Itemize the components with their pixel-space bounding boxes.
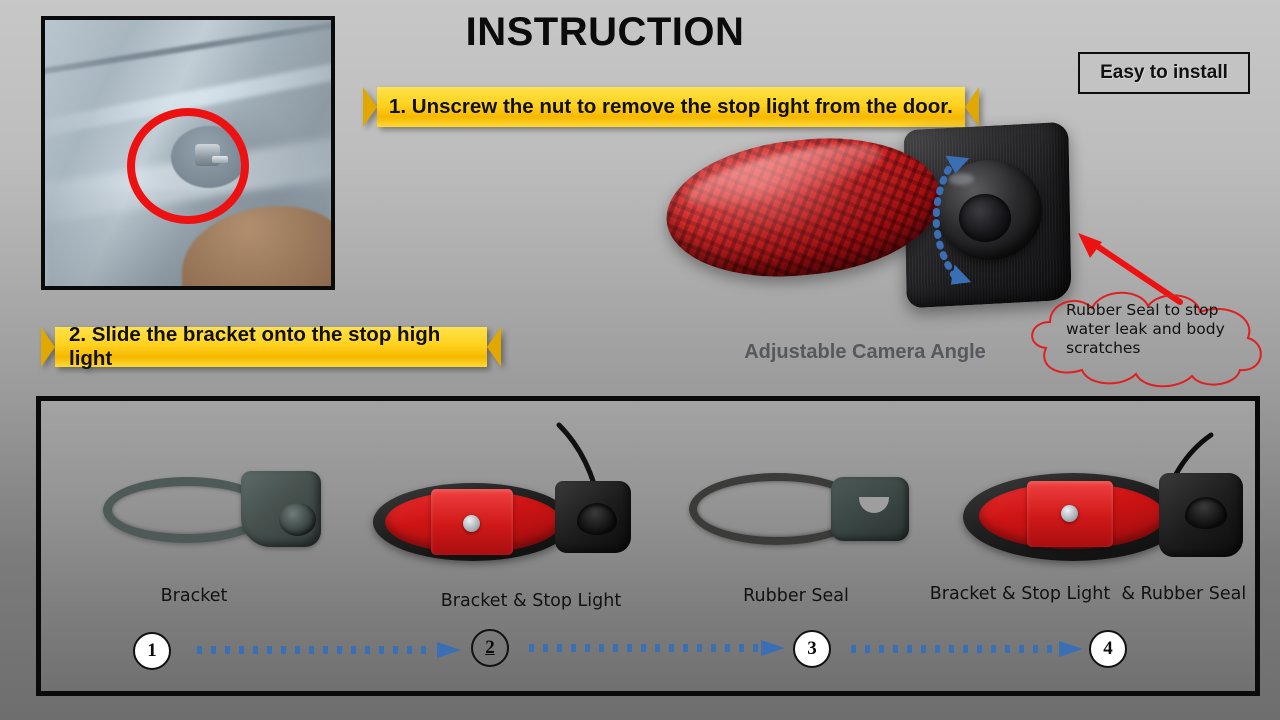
bracket-camera-lens bbox=[279, 503, 316, 536]
step-2-banner: 2. Slide the bracket onto the stop high … bbox=[41, 327, 501, 367]
lens-gloss bbox=[682, 132, 887, 220]
rubber-seal-callout: Rubber Seal to stop water leak and body … bbox=[1016, 286, 1278, 390]
page-title: INSTRUCTION bbox=[440, 10, 770, 55]
rotation-arrow-icon bbox=[918, 138, 1008, 298]
stop-light-camera-assembly bbox=[660, 118, 1080, 313]
part-label-3: Rubber Seal bbox=[681, 586, 911, 606]
step-2-text: 2. Slide the bracket onto the stop high … bbox=[55, 327, 487, 367]
part-bracket-stoplight bbox=[359, 421, 649, 561]
adjustable-camera-angle-label: Adjustable Camera Angle bbox=[700, 341, 1030, 364]
flow-arrow-2-3 bbox=[525, 639, 787, 657]
step-circle-2: 2 bbox=[471, 629, 509, 667]
step-circle-2-number: 2 bbox=[485, 637, 495, 659]
flow-arrow-1-2 bbox=[193, 641, 463, 659]
assembly-camera-hole bbox=[1185, 497, 1227, 529]
bracket-camera-hole bbox=[577, 503, 617, 535]
banner-left-cap bbox=[363, 87, 377, 127]
part-label-1: Bracket bbox=[79, 586, 309, 606]
step-circle-3-number: 3 bbox=[807, 638, 817, 660]
step-circle-4-number: 4 bbox=[1103, 638, 1113, 660]
step-circle-4: 4 bbox=[1089, 630, 1127, 668]
banner-right-cap-2 bbox=[487, 327, 501, 367]
flow-arrow-3-4 bbox=[847, 640, 1085, 658]
step-circle-1: 1 bbox=[133, 632, 171, 670]
part-rubber-seal bbox=[681, 463, 921, 559]
callout-text: Rubber Seal to stop water leak and body … bbox=[1066, 301, 1251, 358]
part-label-4: Bracket & Stop Light & Rubber Seal bbox=[913, 584, 1263, 604]
assembly-screw bbox=[1061, 505, 1078, 522]
step-circle-3: 3 bbox=[793, 630, 831, 668]
badge-label: Easy to install bbox=[1100, 62, 1228, 84]
step-circle-1-number: 1 bbox=[147, 640, 157, 662]
stoplight-screw bbox=[463, 515, 480, 532]
part-label-2: Bracket & Stop Light bbox=[386, 591, 676, 611]
instruction-poster: INSTRUCTION Easy to install 1. Unscrew t… bbox=[0, 0, 1280, 720]
assembly-steps-panel: Bracket Bracket & Stop Light Rubber Seal bbox=[36, 396, 1260, 696]
part-full-assembly bbox=[953, 431, 1253, 566]
easy-to-install-badge: Easy to install bbox=[1078, 52, 1250, 94]
banner-left-cap-2 bbox=[41, 327, 55, 367]
red-annotation-circle bbox=[127, 108, 249, 224]
door-nut-photo bbox=[41, 16, 335, 290]
part-bracket bbox=[93, 463, 333, 559]
